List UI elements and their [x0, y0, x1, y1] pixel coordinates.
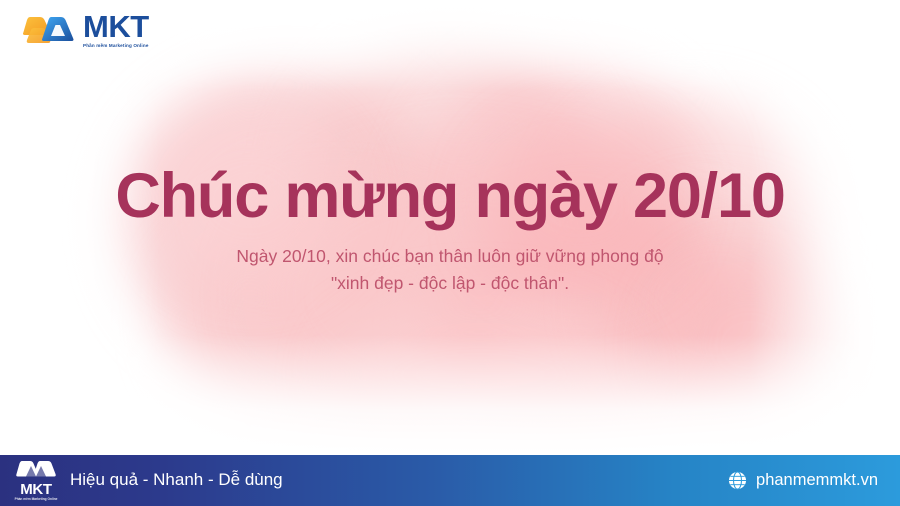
background-fade-bottom	[0, 335, 900, 455]
mkt-logo-icon	[20, 12, 76, 48]
header-logo: MKT Phần mềm Marketing Online	[20, 11, 149, 49]
logo-tagline-text: Phần mềm Marketing Online	[83, 44, 149, 49]
footer-brand-text: MKT	[20, 482, 52, 497]
slide-canvas: MKT Phần mềm Marketing Online Chúc mừng …	[0, 0, 900, 506]
footer-slogan: Hiệu quả - Nhanh - Dễ dùng	[70, 470, 283, 490]
footer-website-url[interactable]: phanmemmkt.vn	[756, 471, 878, 490]
globe-icon	[728, 471, 747, 490]
logo-wordmark: MKT Phần mềm Marketing Online	[83, 11, 149, 49]
page-title: Chúc mừng ngày 20/10	[0, 163, 900, 229]
subtitle-line-2: "xinh đẹp - độc lập - độc thân".	[0, 270, 900, 297]
footer-brand-group: MKT Phần mềm Marketing Online Hiệu quả -…	[0, 459, 283, 501]
logo-brand-text: MKT	[83, 11, 149, 42]
mkt-logo-icon	[14, 459, 58, 481]
footer-tagline-text: Phần mềm Marketing Online	[15, 498, 58, 501]
footer-bar: MKT Phần mềm Marketing Online Hiệu quả -…	[0, 455, 900, 506]
page-subtitle: Ngày 20/10, xin chúc bạn thân luôn giữ v…	[0, 243, 900, 297]
footer-logo: MKT Phần mềm Marketing Online	[14, 459, 58, 501]
footer-website-group[interactable]: phanmemmkt.vn	[728, 471, 900, 490]
watercolor-blob	[330, 300, 630, 450]
main-content: Chúc mừng ngày 20/10 Ngày 20/10, xin chú…	[0, 163, 900, 297]
subtitle-line-1: Ngày 20/10, xin chúc bạn thân luôn giữ v…	[0, 243, 900, 270]
